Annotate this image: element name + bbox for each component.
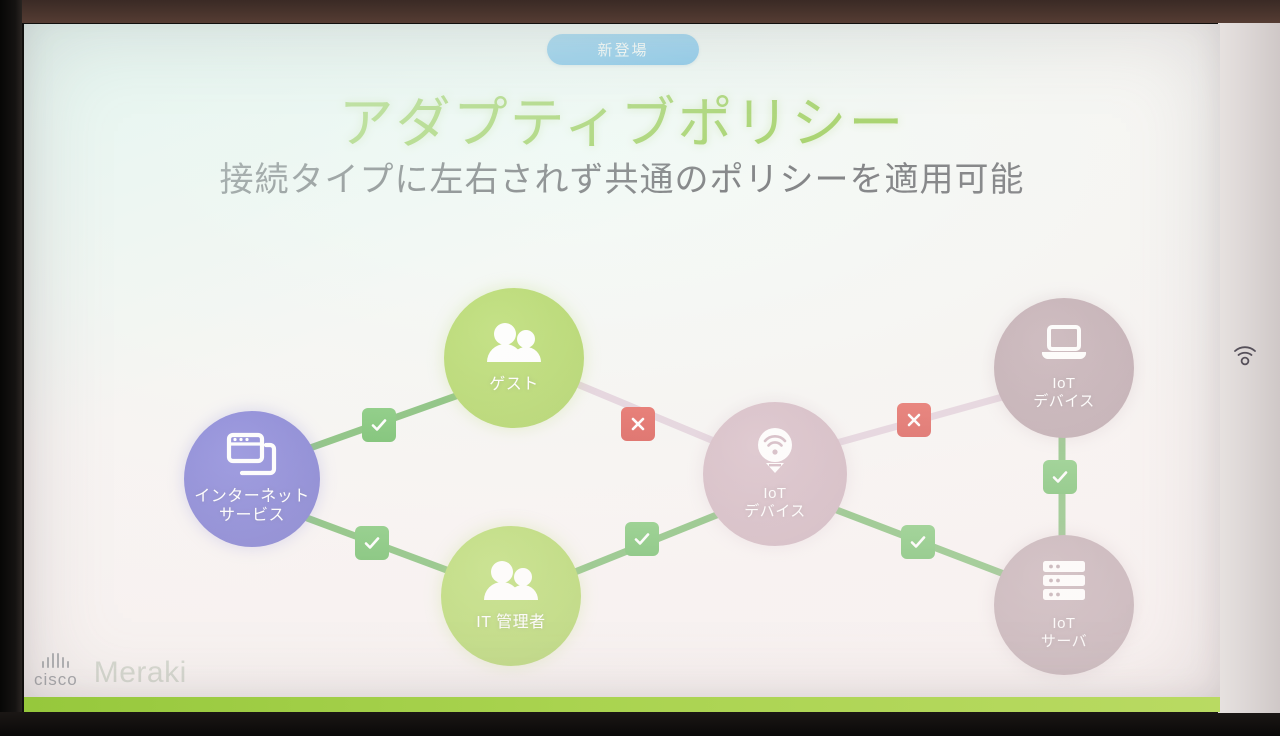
gate-allow-internet-guest[interactable] bbox=[362, 408, 396, 442]
laptop-icon bbox=[1039, 325, 1089, 369]
node-internet-service[interactable]: インターネット サービス bbox=[184, 411, 320, 547]
node-label-line2: サービス bbox=[219, 507, 285, 526]
check-icon bbox=[908, 532, 928, 552]
cross-icon bbox=[905, 411, 923, 429]
gate-allow-iotdevice-iotserver[interactable] bbox=[901, 525, 935, 559]
check-icon bbox=[1050, 467, 1070, 487]
node-label-line1: IoT bbox=[763, 485, 786, 503]
wall-right-surface bbox=[1218, 23, 1280, 713]
check-icon bbox=[369, 415, 389, 435]
node-label-line1: ゲスト bbox=[489, 376, 539, 395]
node-label-line1: インターネット bbox=[194, 488, 310, 507]
users-icon bbox=[485, 322, 543, 370]
wall-bottom-band bbox=[0, 712, 1280, 736]
node-iot-server[interactable]: IoT サーバ bbox=[994, 535, 1134, 675]
gate-deny-iotdevice-iotdeviceright[interactable] bbox=[897, 403, 931, 437]
wall-left-edge bbox=[0, 0, 22, 736]
gate-deny-guest-iotdevice[interactable] bbox=[621, 407, 655, 441]
wifi-icon bbox=[1232, 344, 1258, 366]
node-label-line1: IoT bbox=[1052, 615, 1075, 633]
wifi-bulb-icon bbox=[753, 427, 797, 479]
node-label-line2: デバイス bbox=[744, 503, 806, 521]
gate-allow-itadmin-iotdevice[interactable] bbox=[625, 522, 659, 556]
gate-allow-internet-itadmin[interactable] bbox=[355, 526, 389, 560]
check-icon bbox=[362, 533, 382, 553]
node-label-line2: デバイス bbox=[1033, 393, 1095, 411]
cisco-wordmark: cisco bbox=[34, 670, 78, 690]
node-label-line1: IT 管理者 bbox=[476, 614, 545, 633]
node-label-line2: サーバ bbox=[1041, 633, 1087, 651]
meraki-wordmark: Meraki bbox=[94, 656, 187, 690]
cross-icon bbox=[629, 415, 647, 433]
node-iot-device-right[interactable]: IoT デバイス bbox=[994, 298, 1134, 438]
slide-surface: 新登場 アダプティブポリシー 接続タイプに左右されず共通のポリシーを適用可能 bbox=[24, 24, 1220, 712]
accent-bar bbox=[24, 697, 1220, 712]
wall-top-band bbox=[22, 0, 1280, 23]
node-it-admin[interactable]: IT 管理者 bbox=[441, 526, 581, 666]
gate-allow-iotdeviceright-iotserver[interactable] bbox=[1043, 460, 1077, 494]
policy-diagram: インターネット サービス ゲスト bbox=[24, 24, 1220, 712]
server-stack-icon bbox=[1040, 559, 1088, 609]
check-icon bbox=[632, 529, 652, 549]
node-guest[interactable]: ゲスト bbox=[444, 288, 584, 428]
users-icon bbox=[482, 560, 540, 608]
cisco-logo: cisco bbox=[34, 653, 78, 690]
browser-windows-icon bbox=[226, 432, 278, 482]
cisco-bars-icon bbox=[42, 653, 69, 668]
node-label-line1: IoT bbox=[1052, 375, 1075, 393]
brand-logo: cisco Meraki bbox=[34, 653, 187, 690]
photo-of-projected-slide: 新登場 アダプティブポリシー 接続タイプに左右されず共通のポリシーを適用可能 bbox=[0, 0, 1280, 736]
node-iot-device-center[interactable]: IoT デバイス bbox=[703, 402, 847, 546]
